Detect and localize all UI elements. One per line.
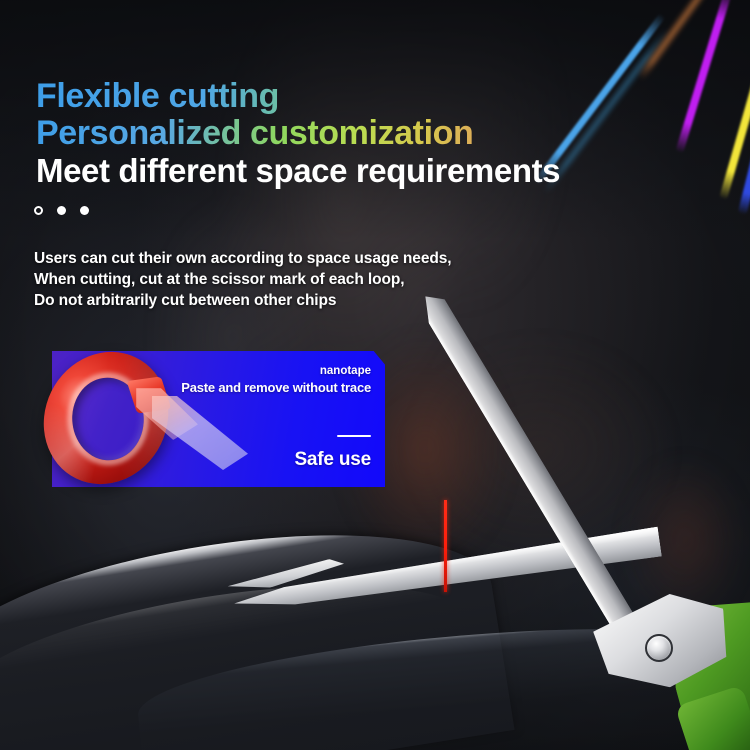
decorative-dots — [34, 206, 89, 215]
instruction-line-3: Do not arbitrarily cut between other chi… — [34, 290, 451, 311]
scissor-pivot-screw — [645, 634, 673, 662]
cut-mark-line — [444, 500, 447, 592]
card-divider — [337, 435, 371, 437]
card-brand-label: nanotape — [320, 365, 371, 377]
headline-line-3: Meet different space requirements — [36, 152, 676, 189]
headline-line-2: Personalized customization — [36, 115, 676, 152]
dot-1-icon — [57, 206, 66, 215]
dot-ring-icon — [34, 206, 43, 215]
headline-line-1: Flexible cutting — [36, 78, 676, 115]
headline-block: Flexible cutting Personalized customizat… — [36, 78, 676, 189]
instructions-block: Users can cut their own according to spa… — [34, 248, 451, 311]
product-banner: Flexible cutting Personalized customizat… — [0, 0, 750, 750]
instruction-line-2: When cutting, cut at the scissor mark of… — [34, 269, 451, 290]
card-claim-label: Safe use — [294, 449, 371, 471]
tape-roll — [36, 348, 236, 493]
dot-2-icon — [80, 206, 89, 215]
instruction-line-1: Users can cut their own according to spa… — [34, 248, 451, 269]
